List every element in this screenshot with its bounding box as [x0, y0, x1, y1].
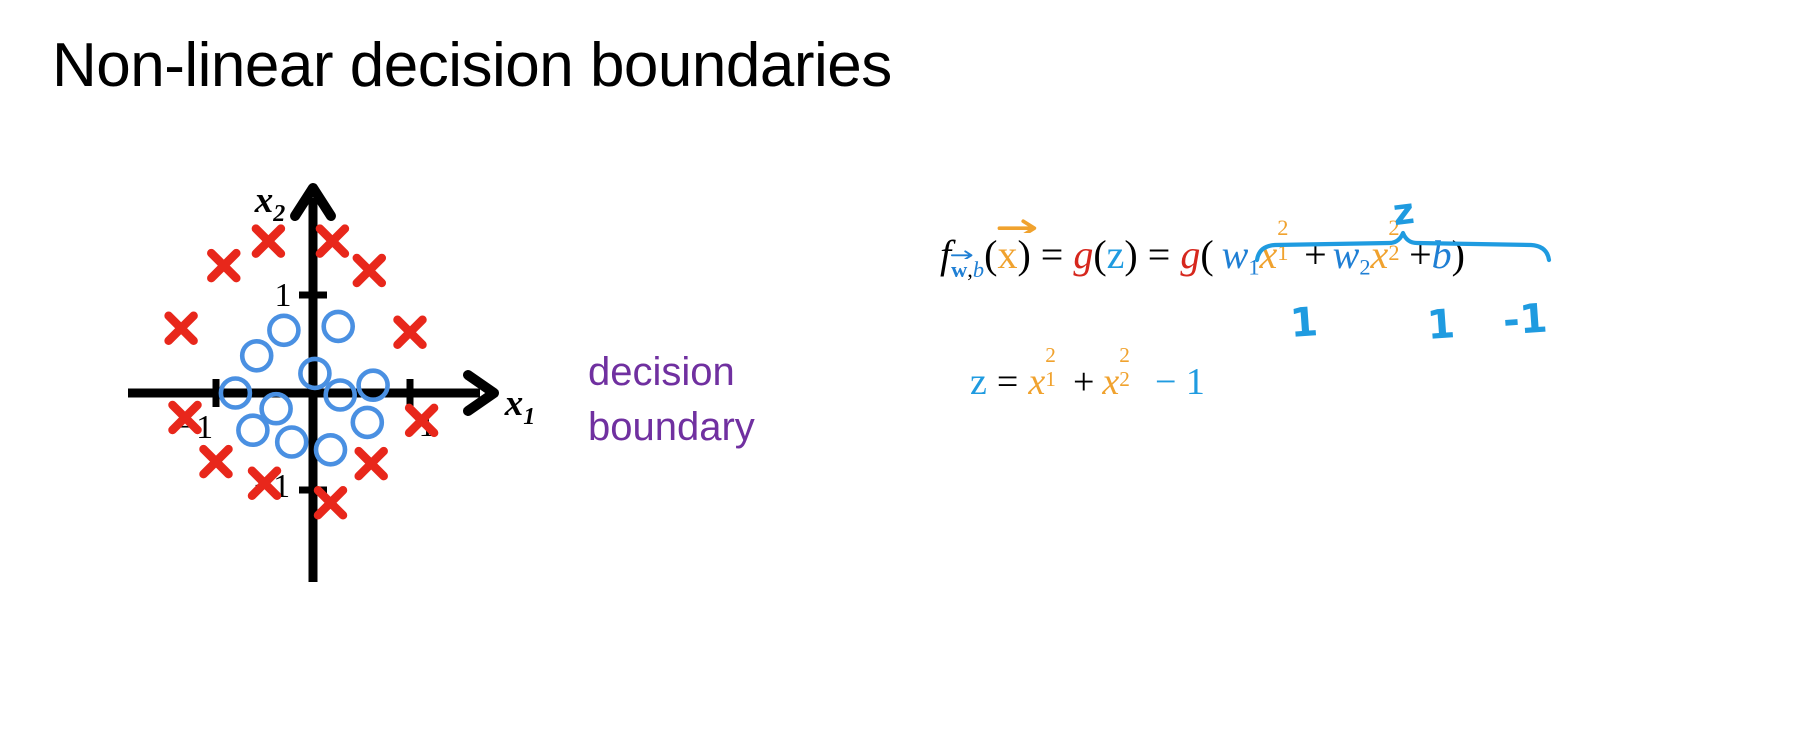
- formula-open-paren-3: (: [1200, 232, 1213, 277]
- formula-f-subscript: w,b: [951, 259, 984, 281]
- z-equation-z: z: [970, 361, 987, 403]
- z-equation-minus-one: − 1: [1139, 361, 1205, 403]
- formula-w2: w: [1333, 232, 1360, 277]
- circle-marker: [238, 416, 267, 445]
- circle-marker: [353, 408, 382, 437]
- data-markers: [169, 229, 435, 516]
- scatter-plot: −1 1 1 −1 x2 x1: [120, 170, 570, 600]
- z-equation-x2-indices: 22: [1119, 356, 1139, 394]
- formula-plus-2: +: [1409, 232, 1432, 277]
- model-formula: fw,b(x)=g(z)=g(w1x21+w2x22+b): [940, 228, 1465, 282]
- annotation-w1-value: 1: [1288, 299, 1319, 347]
- formula-close-paren-1: ): [1017, 232, 1030, 277]
- circle-marker: [324, 312, 353, 341]
- formula-x2: x: [1371, 232, 1389, 277]
- circle-marker: [316, 435, 345, 464]
- cross-marker: [256, 229, 281, 254]
- formula-w2-subscript: 2: [1359, 254, 1370, 279]
- formula-open-paren-2: (: [1093, 232, 1106, 277]
- decision-boundary-line2: boundary: [588, 400, 755, 455]
- annotation-w2-value: 1: [1425, 301, 1456, 349]
- formula-plus-1: +: [1298, 232, 1333, 277]
- formula-x-vector: x: [997, 235, 1017, 275]
- vector-arrow-icon: [996, 217, 1039, 234]
- formula-z-1: z: [1107, 232, 1125, 277]
- page-title: Non-linear decision boundaries: [52, 30, 892, 101]
- circle-marker: [277, 428, 306, 457]
- cross-marker: [169, 316, 194, 341]
- formula-equals-2: =: [1138, 232, 1181, 277]
- circle-marker: [242, 341, 271, 370]
- z-equation: z=x21+x22− 1: [970, 356, 1205, 401]
- z-equation-x2: x: [1102, 361, 1119, 403]
- formula-b: b: [1432, 232, 1452, 277]
- formula-g-1: g: [1073, 232, 1093, 277]
- formula-close-paren-2: ): [1124, 232, 1137, 277]
- circle-marker: [269, 316, 298, 345]
- scatter-plot-svg: −1 1 1 −1 x2 x1: [120, 170, 570, 600]
- x-axis-label: x1: [504, 383, 536, 430]
- cross-marker: [204, 449, 229, 474]
- formula-equals-1: =: [1031, 232, 1074, 277]
- circle-marker: [262, 394, 291, 423]
- formula-open-paren-1: (: [984, 232, 997, 277]
- formula-x1: x: [1260, 232, 1278, 277]
- z-equation-x1-indices: 21: [1045, 356, 1065, 394]
- z-equation-plus: +: [1065, 361, 1102, 403]
- cross-marker: [318, 490, 343, 515]
- formula-x2-indices: 22: [1388, 228, 1409, 268]
- formula-x1-indices: 21: [1277, 228, 1298, 268]
- cross-marker: [357, 258, 382, 283]
- cross-marker: [211, 253, 236, 278]
- formula-close-paren-3: ): [1452, 232, 1465, 277]
- formula-f: f: [940, 235, 951, 275]
- z-equation-x1: x: [1028, 361, 1045, 403]
- formula-g-2: g: [1180, 232, 1200, 277]
- decision-boundary-label: decision boundary: [588, 345, 755, 455]
- formula-w-vector: w: [951, 259, 967, 281]
- annotation-b-value: -1: [1501, 296, 1549, 345]
- y-axis-label: x2: [254, 180, 286, 227]
- cross-marker: [359, 451, 384, 476]
- cross-marker: [398, 320, 423, 345]
- decision-boundary-line1: decision: [588, 345, 755, 400]
- formula-w1-subscript: 1: [1248, 254, 1259, 279]
- z-equation-equals: =: [987, 361, 1028, 403]
- formula-w1: w: [1222, 232, 1249, 277]
- cross-marker: [320, 229, 345, 254]
- tick-label-y-pos1: 1: [275, 277, 292, 314]
- axes: [128, 198, 480, 582]
